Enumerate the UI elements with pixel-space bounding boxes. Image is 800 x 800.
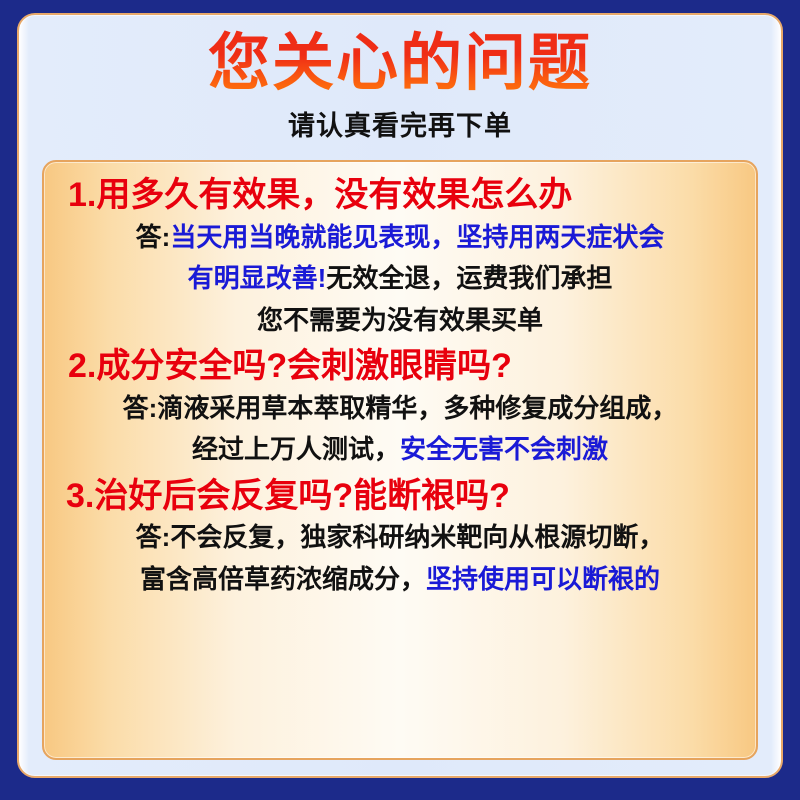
faq-answer-2-line-2: 经过上万人测试，安全无害不会刺激 bbox=[58, 429, 742, 471]
faq-answer-3-line-2: 富含高倍草药浓缩成分，坚持使用可以断裉的 bbox=[58, 559, 742, 601]
faq-card: 1.用多久有效果，没有效果怎么办答:当天用当晚就能见表现，坚持用两天症状会有明显… bbox=[42, 160, 758, 760]
answer-segment-normal: 不会反复，独家科研纳米靶向从根源切断， bbox=[170, 522, 664, 552]
faq-item-1: 1.用多久有效果，没有效果怎么办答:当天用当晚就能见表现，坚持用两天症状会有明显… bbox=[58, 174, 742, 345]
answer-segment-highlight: 当天用当晚就能见表现，坚持用两天症状会 bbox=[170, 222, 664, 252]
faq-answer-1-line-1: 答:当天用当晚就能见表现，坚持用两天症状会 bbox=[58, 217, 742, 259]
header: 您关心的问题 请认真看完再下单 bbox=[17, 13, 783, 163]
answer-segment-label: 答: bbox=[136, 522, 171, 552]
page-subtitle: 请认真看完再下单 bbox=[288, 104, 512, 143]
faq-answer-2-line-1: 答:滴液采用草本萃取精华，多种修复成分组成， bbox=[58, 388, 742, 430]
faq-answer-3-line-1: 答:不会反复，独家科研纳米靶向从根源切断， bbox=[58, 517, 742, 559]
faq-item-2: 2.成分安全吗?会刺激眼睛吗?答:滴液采用草本萃取精华，多种修复成分组成，经过上… bbox=[58, 345, 742, 475]
promo-frame: 您关心的问题 请认真看完再下单 1.用多久有效果，没有效果怎么办答:当天用当晚就… bbox=[0, 0, 800, 800]
answer-segment-normal: 经过上万人测试， bbox=[192, 434, 400, 464]
answer-segment-normal: 无效全退，运费我们承担 bbox=[326, 263, 612, 293]
answer-segment-highlight: 有明显改善! bbox=[188, 263, 327, 293]
faq-question-1: 1.用多久有效果，没有效果怎么办 bbox=[58, 174, 742, 217]
faq-answer-1-line-3: 您不需要为没有效果买单 bbox=[58, 300, 742, 342]
page-title: 您关心的问题 bbox=[208, 29, 592, 98]
faq-question-3: 3.治好后会反复吗?能断裉吗? bbox=[58, 475, 742, 518]
answer-segment-normal: 滴液采用草本萃取精华，多种修复成分组成， bbox=[157, 393, 677, 423]
answer-segment-label: 答: bbox=[136, 222, 171, 252]
answer-segment-highlight: 坚持使用可以断裉的 bbox=[426, 564, 660, 594]
faq-question-2: 2.成分安全吗?会刺激眼睛吗? bbox=[58, 345, 742, 388]
answer-segment-label: 答: bbox=[123, 393, 158, 423]
faq-answer-1-line-2: 有明显改善!无效全退，运费我们承担 bbox=[58, 258, 742, 300]
answer-segment-normal: 您不需要为没有效果买单 bbox=[257, 305, 543, 335]
answer-segment-highlight: 安全无害不会刺激 bbox=[400, 434, 608, 464]
answer-segment-normal: 富含高倍草药浓缩成分， bbox=[140, 564, 426, 594]
faq-item-3: 3.治好后会反复吗?能断裉吗?答:不会反复，独家科研纳米靶向从根源切断，富含高倍… bbox=[58, 475, 742, 601]
